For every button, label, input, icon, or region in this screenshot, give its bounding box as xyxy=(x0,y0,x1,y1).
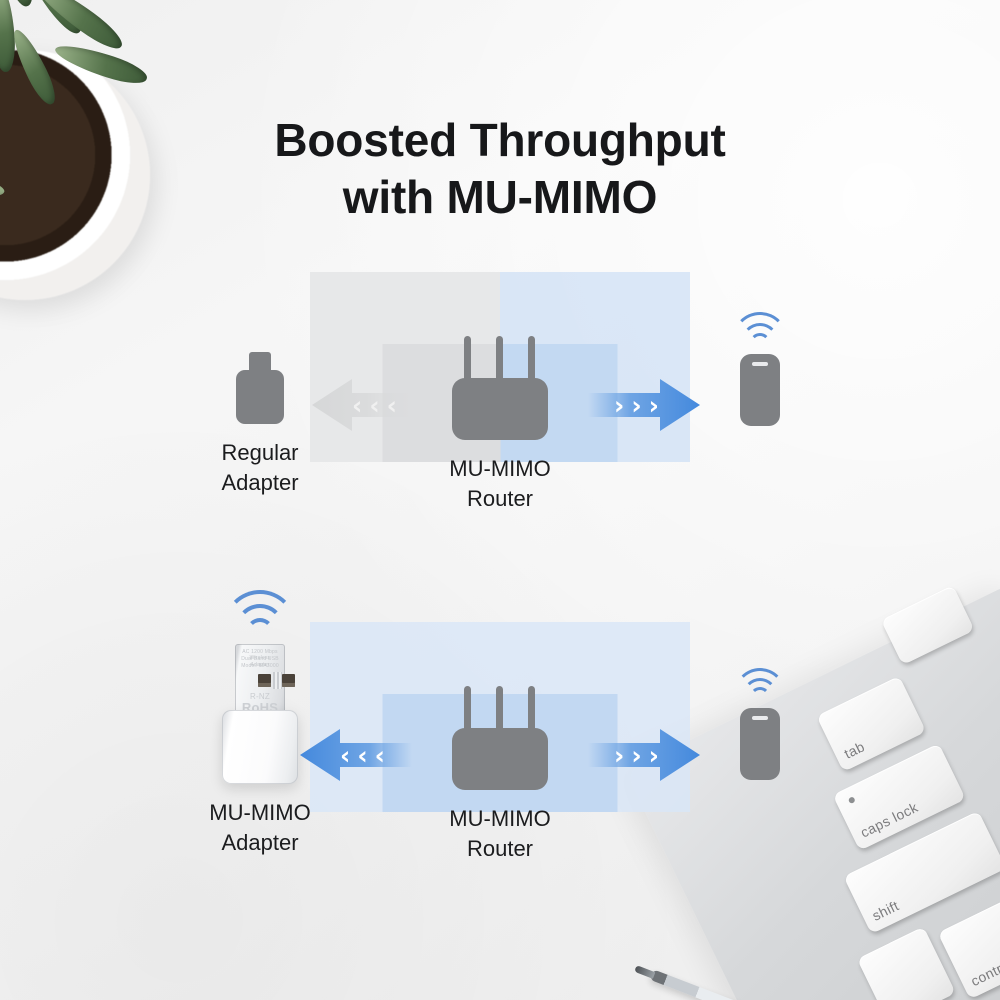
node-router-row2: MU-MIMORouter xyxy=(422,686,578,863)
usb-contact-strip xyxy=(273,672,282,689)
node-caption-router: MU-MIMORouter xyxy=(422,804,578,863)
arrow-chevrons: ‹‹‹ xyxy=(352,377,397,433)
smartphone-icon xyxy=(740,708,780,780)
usb-dongle-icon xyxy=(236,352,284,424)
router-icon xyxy=(452,686,548,790)
node-smartphone-row1 xyxy=(700,312,820,426)
arrow-chevrons: ››› xyxy=(614,377,659,433)
node-smartphone-row2 xyxy=(700,668,820,780)
right-arrow-strong: ››› xyxy=(588,377,700,433)
infographic-canvas: tab caps lock shift fn control option Bo… xyxy=(0,0,1000,1000)
usb-adapter-photo: AC 1200 Mbps Wireless Dual Band USB Adap… xyxy=(222,644,298,784)
usb-adapter-shell xyxy=(222,710,298,784)
node-router-row1: MU-MIMORouter xyxy=(422,336,578,513)
arrow-chevrons: ‹‹‹ xyxy=(340,727,385,783)
arrow-chevrons: ››› xyxy=(614,727,659,783)
diagram-row-regular-adapter: RegularAdapter ‹‹‹ MU-MIMORouter xyxy=(0,240,1000,540)
router-icon xyxy=(452,336,548,440)
node-caption-mumimo-adapter: MU-MIMOAdapter xyxy=(182,798,338,857)
left-arrow-weak: ‹‹‹ xyxy=(312,377,412,433)
right-arrow-strong: ››› xyxy=(588,727,700,783)
wifi-signal-icon xyxy=(733,312,787,346)
title-line-2: with MU-MIMO xyxy=(0,169,1000,226)
left-arrow-strong: ‹‹‹ xyxy=(300,727,412,783)
wifi-signal-icon xyxy=(735,668,785,700)
usb-contact xyxy=(258,674,271,687)
diagram-row-mumimo-adapter: AC 1200 Mbps Wireless Dual Band USB Adap… xyxy=(0,590,1000,890)
node-caption-router: MU-MIMORouter xyxy=(422,454,578,513)
smartphone-icon xyxy=(740,354,780,426)
usb-contact xyxy=(282,674,295,687)
wifi-signal-icon xyxy=(225,590,295,634)
title-line-1: Boosted Throughput xyxy=(0,112,1000,169)
node-mumimo-adapter: AC 1200 Mbps Wireless Dual Band USB Adap… xyxy=(182,590,338,857)
page-title: Boosted Throughput with MU-MIMO xyxy=(0,112,1000,225)
usb-connector: AC 1200 Mbps Wireless Dual Band USB Adap… xyxy=(235,644,285,718)
node-caption-regular-adapter: RegularAdapter xyxy=(182,438,338,497)
